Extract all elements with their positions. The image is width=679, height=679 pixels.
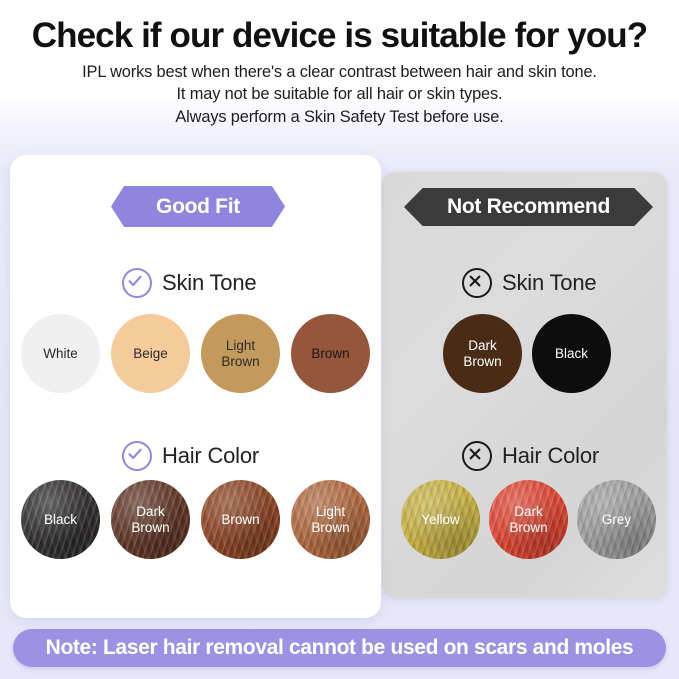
good-hair-swatch-row: BlackDarkBrownBrownLightBrown [21,480,370,559]
header: Check if our device is suitable for you?… [0,0,679,128]
color-swatch: DarkBrown [111,480,190,559]
color-swatch-label: Beige [130,346,171,361]
section-label: Skin Tone [502,270,596,296]
check-circle-icon [122,441,152,471]
color-swatch: DarkBrown [443,314,522,393]
x-circle-icon [462,441,492,471]
good-skin-swatch-row: WhiteBeigeLightBrownBrown [21,314,370,393]
good-skin-tone-heading: Skin Tone [122,268,256,298]
good-hair-color-heading: Hair Color [122,441,259,471]
color-swatch: LightBrown [201,314,280,393]
color-swatch: LightBrown [291,480,370,559]
color-swatch: Beige [111,314,190,393]
color-swatch-label: Black [41,512,80,527]
color-swatch-label: DarkBrown [128,504,172,535]
color-swatch-label: Yellow [418,512,463,527]
color-swatch-label: Brown [308,346,352,361]
subtitle-line: IPL works best when there's a clear cont… [0,61,679,83]
color-swatch-label: Black [552,346,591,361]
color-swatch-label: Brown [218,512,262,527]
color-swatch: Grey [577,480,656,559]
bad-hair-color-heading: Hair Color [462,441,599,471]
bad-skin-tone-heading: Skin Tone [462,268,596,298]
not-recommend-banner-label: Not Recommend [447,195,610,219]
section-label: Hair Color [162,443,259,469]
good-fit-banner-label: Good Fit [156,195,240,219]
bad-skin-swatch-row: DarkBrownBlack [443,314,611,393]
color-swatch: Black [21,480,100,559]
subtitle-line: It may not be suitable for all hair or s… [0,83,679,105]
color-swatch: Brown [201,480,280,559]
color-swatch: Brown [291,314,370,393]
color-swatch-label: DarkBrown [506,504,550,535]
section-label: Skin Tone [162,270,256,296]
color-swatch-label: LightBrown [218,338,262,369]
section-label: Hair Color [502,443,599,469]
not-recommend-banner: Not Recommend [404,188,653,226]
page-title: Check if our device is suitable for you? [0,0,679,54]
x-circle-icon [462,268,492,298]
color-swatch: White [21,314,100,393]
check-circle-icon [122,268,152,298]
bad-hair-swatch-row: YellowDarkBrownGrey [401,480,656,559]
color-swatch: DarkBrown [489,480,568,559]
color-swatch-label: DarkBrown [460,338,504,369]
color-swatch: Yellow [401,480,480,559]
color-swatch-label: LightBrown [308,504,352,535]
color-swatch-label: White [40,346,81,361]
note-banner: Note: Laser hair removal cannot be used … [13,629,666,667]
note-text: Note: Laser hair removal cannot be used … [46,636,634,660]
color-swatch-label: Grey [599,512,634,527]
subtitle-line: Always perform a Skin Safety Test before… [0,106,679,128]
subtitle-block: IPL works best when there's a clear cont… [0,61,679,128]
infographic-root: Check if our device is suitable for you?… [0,0,679,679]
good-fit-banner: Good Fit [111,186,285,227]
color-swatch: Black [532,314,611,393]
